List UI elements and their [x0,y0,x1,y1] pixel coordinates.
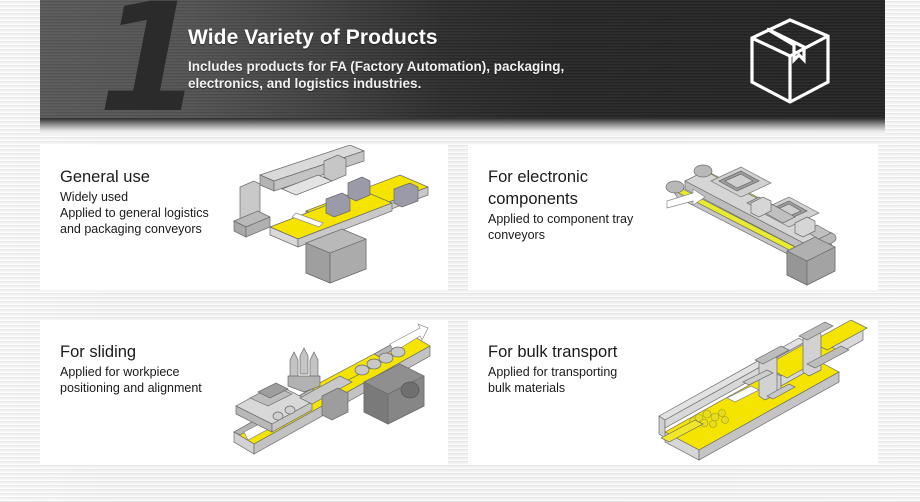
header-subtitle-line-2: electronics, and logistics industries. [188,75,748,92]
package-box-icon [747,16,833,106]
header-bottom-fade [40,118,885,134]
page-title: Wide Variety of Products [188,26,748,50]
dual-belt-conveyor-with-gantry-illustration [214,145,444,290]
product-card-for-sliding[interactable]: For sliding Applied for workpiece positi… [40,320,448,465]
bulk-material-conveyor-illustration [655,320,870,465]
tray-conveyor-illustration [655,145,870,290]
product-card-general-use[interactable]: General use Widely used Applied to gener… [40,145,448,290]
header-text-block: Wide Variety of Products Includes produc… [188,26,748,92]
step-number: 1 [98,0,196,118]
header-subtitle-line-1: Includes products for FA (Factory Automa… [188,58,748,75]
product-card-electronic-components[interactable]: For electronic components Applied to com… [468,145,878,290]
product-card-bulk-transport[interactable]: For bulk transport Applied for transport… [468,320,878,465]
header-banner: 1 Wide Variety of Products Includes prod… [40,0,885,118]
sliding-conveyor-with-positioner-illustration [214,320,444,465]
